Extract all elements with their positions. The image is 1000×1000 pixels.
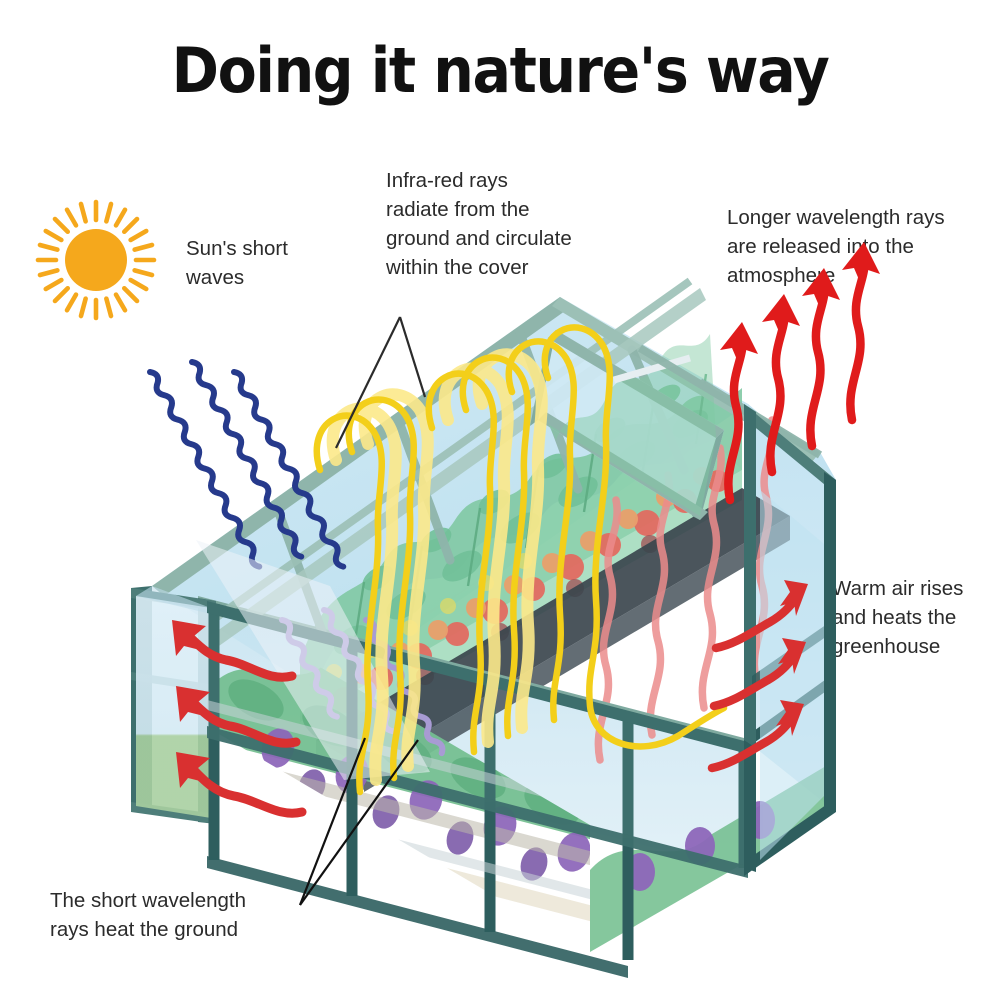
sun-icon xyxy=(0,0,1000,1000)
sun-disc xyxy=(65,229,127,291)
infographic-canvas: Doing it nature's way xyxy=(0,0,1000,1000)
